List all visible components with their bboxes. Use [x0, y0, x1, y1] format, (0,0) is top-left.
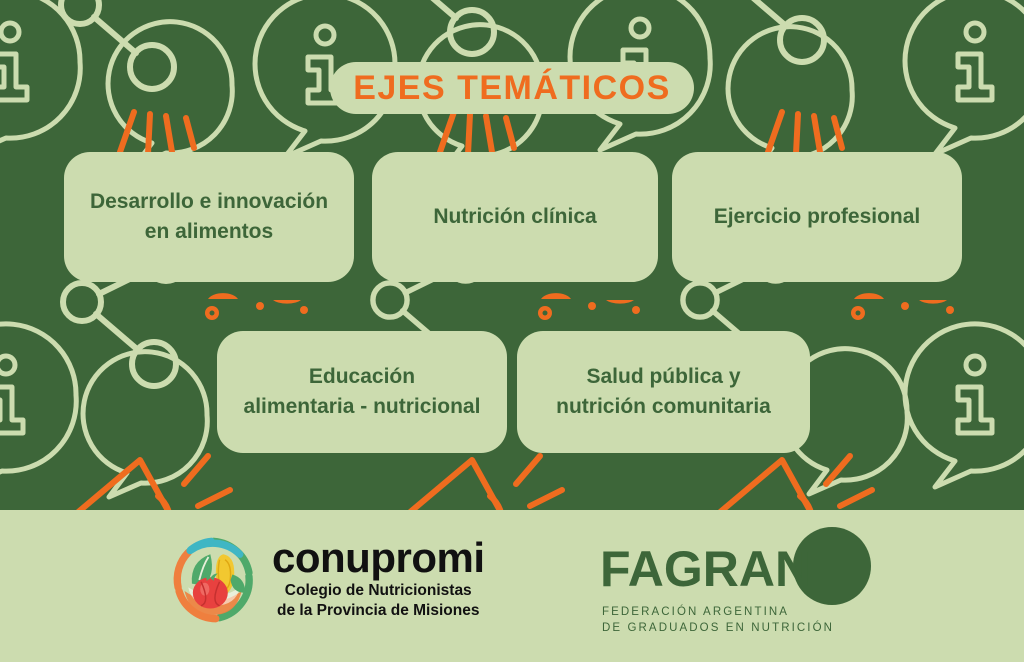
page-title-banner: EJES TEMÁTICOS — [330, 62, 694, 114]
share-network-icon — [711, 0, 833, 62]
sunburst-icon — [768, 112, 842, 154]
fagran-subtitle: FEDERACIÓN ARGENTINA DE GRADUADOS EN NUT… — [602, 604, 834, 637]
conupromi-logo: conupromi Colegio de Nutricionistas de l… — [168, 534, 485, 626]
plain-speech-bubble-icon — [108, 22, 232, 167]
plain-speech-bubble-icon — [83, 352, 207, 497]
info-speech-bubble-icon — [905, 324, 1024, 487]
topic-card[interactable]: Educación alimentaria - nutricional — [217, 331, 507, 453]
info-speech-bubble-icon — [905, 0, 1024, 154]
conupromi-subtitle: Colegio de Nutricionistas de la Provinci… — [272, 581, 485, 621]
poster-canvas: EJES TEMÁTICOS Desarrollo e innovación e… — [0, 0, 1024, 662]
page-title: EJES TEMÁTICOS — [353, 71, 671, 105]
topic-card[interactable]: Salud pública y nutrición comunitaria — [517, 331, 810, 453]
vegetables-circle-icon — [168, 534, 260, 626]
plain-speech-bubble-icon — [728, 27, 852, 172]
footer-bar: conupromi Colegio de Nutricionistas de l… — [0, 510, 1024, 662]
topic-card-label: Salud pública y nutrición comunitaria — [556, 362, 771, 422]
conupromi-wordmark: conupromi — [272, 539, 485, 578]
fagran-wordmark: FAGRAN — [600, 544, 811, 594]
dot-icon — [205, 293, 954, 320]
topic-card[interactable]: Desarrollo e innovación en alimentos — [64, 152, 354, 282]
fagran-logo: FAGRAN FEDERACIÓN ARGENTINA DE GRADUADOS… — [600, 538, 890, 638]
topic-card-label: Educación alimentaria - nutricional — [244, 362, 481, 422]
topic-card-label: Ejercicio profesional — [714, 202, 921, 232]
topic-card[interactable]: Ejercicio profesional — [672, 152, 962, 282]
share-network-icon — [61, 0, 183, 89]
info-speech-bubble-icon — [0, 0, 80, 154]
share-network-icon — [381, 0, 503, 54]
sunburst-icon — [120, 112, 194, 154]
sunburst-icon — [440, 112, 514, 154]
topic-card-label: Nutrición clínica — [433, 202, 596, 232]
topic-card[interactable]: Nutrición clínica — [372, 152, 658, 282]
info-speech-bubble-icon — [0, 324, 76, 487]
topic-card-label: Desarrollo e innovación en alimentos — [90, 187, 328, 247]
